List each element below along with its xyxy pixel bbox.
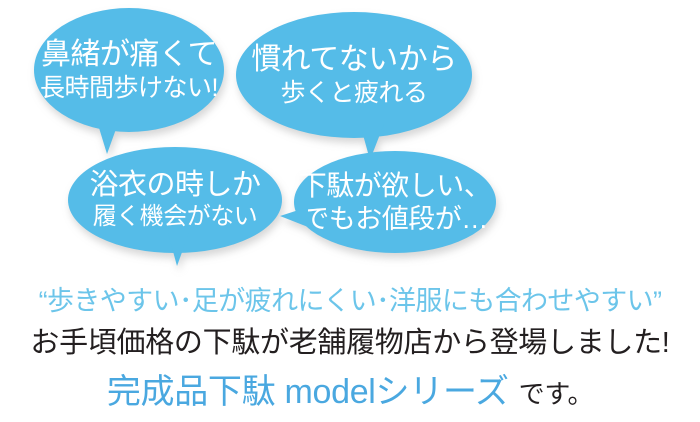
bubble-line-2: 長時間歩けない!: [40, 74, 218, 102]
bubble-tail-icon: [168, 233, 189, 266]
tagline-close-quote: ”: [653, 286, 661, 316]
bubble-line-1: 下駄が欲しい、: [299, 170, 492, 201]
tagline-text: 歩きやすい･足が疲れにくい･洋服にも合わせやすい: [47, 286, 653, 316]
bubble-tail-icon: [96, 118, 120, 154]
bubble-line-1: 鼻緒が痛くて: [41, 38, 217, 72]
tagline: “歩きやすい･足が疲れにくい･洋服にも合わせやすい”: [0, 279, 700, 318]
bubble-line-1: 浴衣の時しか: [89, 169, 260, 201]
product-name-line: 完成品下駄 modelシリーズです。: [0, 364, 700, 413]
bubble-line-2: でもお値段が…: [302, 204, 488, 234]
bubble-line-2: 履く機会がない: [93, 204, 258, 231]
tagline-open-quote: “: [39, 286, 47, 316]
bubble-line-2: 歩くと疲れる: [280, 79, 427, 107]
speech-bubble-pain-strap: 鼻緒が痛くて 長時間歩けない!: [34, 8, 224, 132]
bubble-line-1: 慣れてないから: [251, 43, 457, 77]
product-name-suffix: です。: [519, 379, 594, 409]
speech-bubble-not-used-to: 慣れてないから 歩くと疲れる: [236, 12, 472, 138]
speech-bubble-price-concern: 下駄が欲しい、 でもお値段が…: [294, 151, 496, 253]
product-name: 完成品下駄 modelシリーズ: [107, 373, 509, 411]
promo-graphic: 鼻緒が痛くて 長時間歩けない! 慣れてないから 歩くと疲れる 浴衣の時しか 履く…: [0, 0, 700, 422]
speech-bubble-yukata-only: 浴衣の時しか 履く機会がない: [68, 147, 282, 253]
bubble-tail-icon: [280, 207, 308, 227]
headline: お手頃価格の下駄が老舗履物店から登場しました!: [0, 319, 700, 361]
